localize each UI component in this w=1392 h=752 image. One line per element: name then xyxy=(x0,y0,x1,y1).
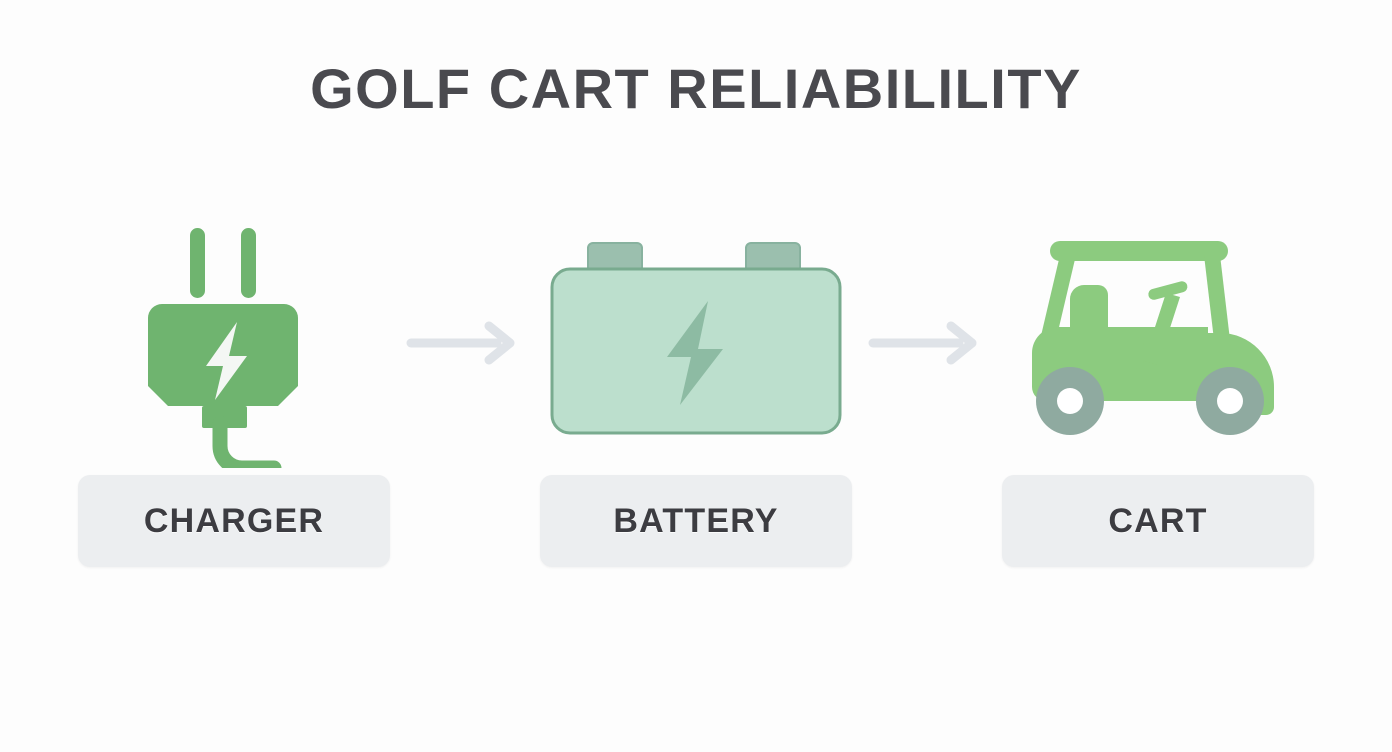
cart-icon-area xyxy=(1002,210,1314,475)
plug-charger-icon xyxy=(134,218,334,468)
arrow-right-icon xyxy=(405,318,525,368)
battery-label-box[interactable]: BATTERY xyxy=(540,475,852,567)
arrow-right-icon xyxy=(867,318,987,368)
flow-stage-battery[interactable]: BATTERY xyxy=(540,210,852,567)
flow-stage-charger[interactable]: CHARGER xyxy=(78,210,390,567)
arrow-charger-to-battery xyxy=(390,210,540,475)
flow-stage-cart[interactable]: CART xyxy=(1002,210,1314,567)
process-flow: CHARGER xyxy=(0,210,1392,630)
battery-icon-area xyxy=(540,210,852,475)
charger-label-box[interactable]: CHARGER xyxy=(78,475,390,567)
charger-label: CHARGER xyxy=(144,502,324,541)
cart-label-box[interactable]: CART xyxy=(1002,475,1314,567)
charger-icon-area xyxy=(78,210,390,475)
arrow-battery-to-cart xyxy=(852,210,1002,475)
cart-label: CART xyxy=(1108,502,1207,541)
battery-label: BATTERY xyxy=(613,502,778,541)
page-title: GOLF CART RELIABILILITY xyxy=(0,56,1392,121)
golf-cart-icon xyxy=(1008,233,1308,453)
battery-icon xyxy=(546,233,846,453)
diagram-canvas: GOLF CART RELIABILILITY xyxy=(0,0,1392,752)
